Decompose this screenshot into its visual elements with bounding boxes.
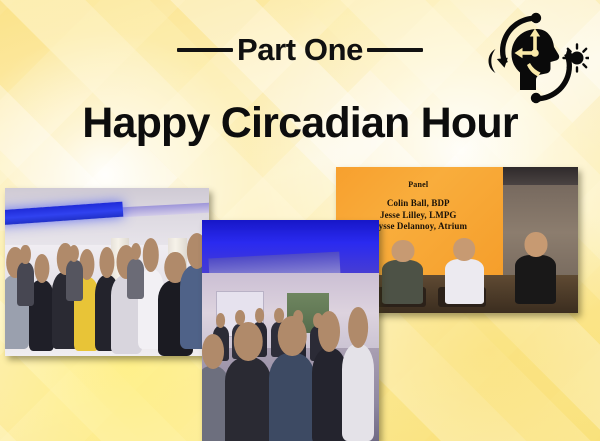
crowd-person-10 bbox=[17, 262, 33, 306]
circadian-rhythm-icon bbox=[483, 6, 589, 110]
panel-slide-heading: Panel bbox=[343, 180, 493, 189]
panelist-3 bbox=[515, 255, 556, 305]
panelist-1 bbox=[382, 260, 423, 304]
audience-front-3 bbox=[269, 353, 315, 441]
crowd-networking-photo bbox=[5, 188, 209, 356]
presentation-slide: Part One Happy Circadian Hour bbox=[0, 0, 600, 441]
kicker-label: Part One bbox=[233, 34, 367, 65]
kicker-rule-right bbox=[367, 48, 423, 52]
audience-seated-photo bbox=[202, 220, 379, 441]
kicker-rule-left bbox=[177, 48, 233, 52]
audience-front-2 bbox=[225, 357, 271, 441]
audience-front-5 bbox=[342, 344, 374, 441]
crowd-person-11 bbox=[66, 260, 82, 300]
panel-speaker-1: Colin Ball, BDP bbox=[343, 198, 493, 210]
panelist-2 bbox=[445, 259, 484, 304]
crowd-person-12 bbox=[127, 259, 143, 299]
panel-photo-ceiling bbox=[496, 167, 578, 185]
